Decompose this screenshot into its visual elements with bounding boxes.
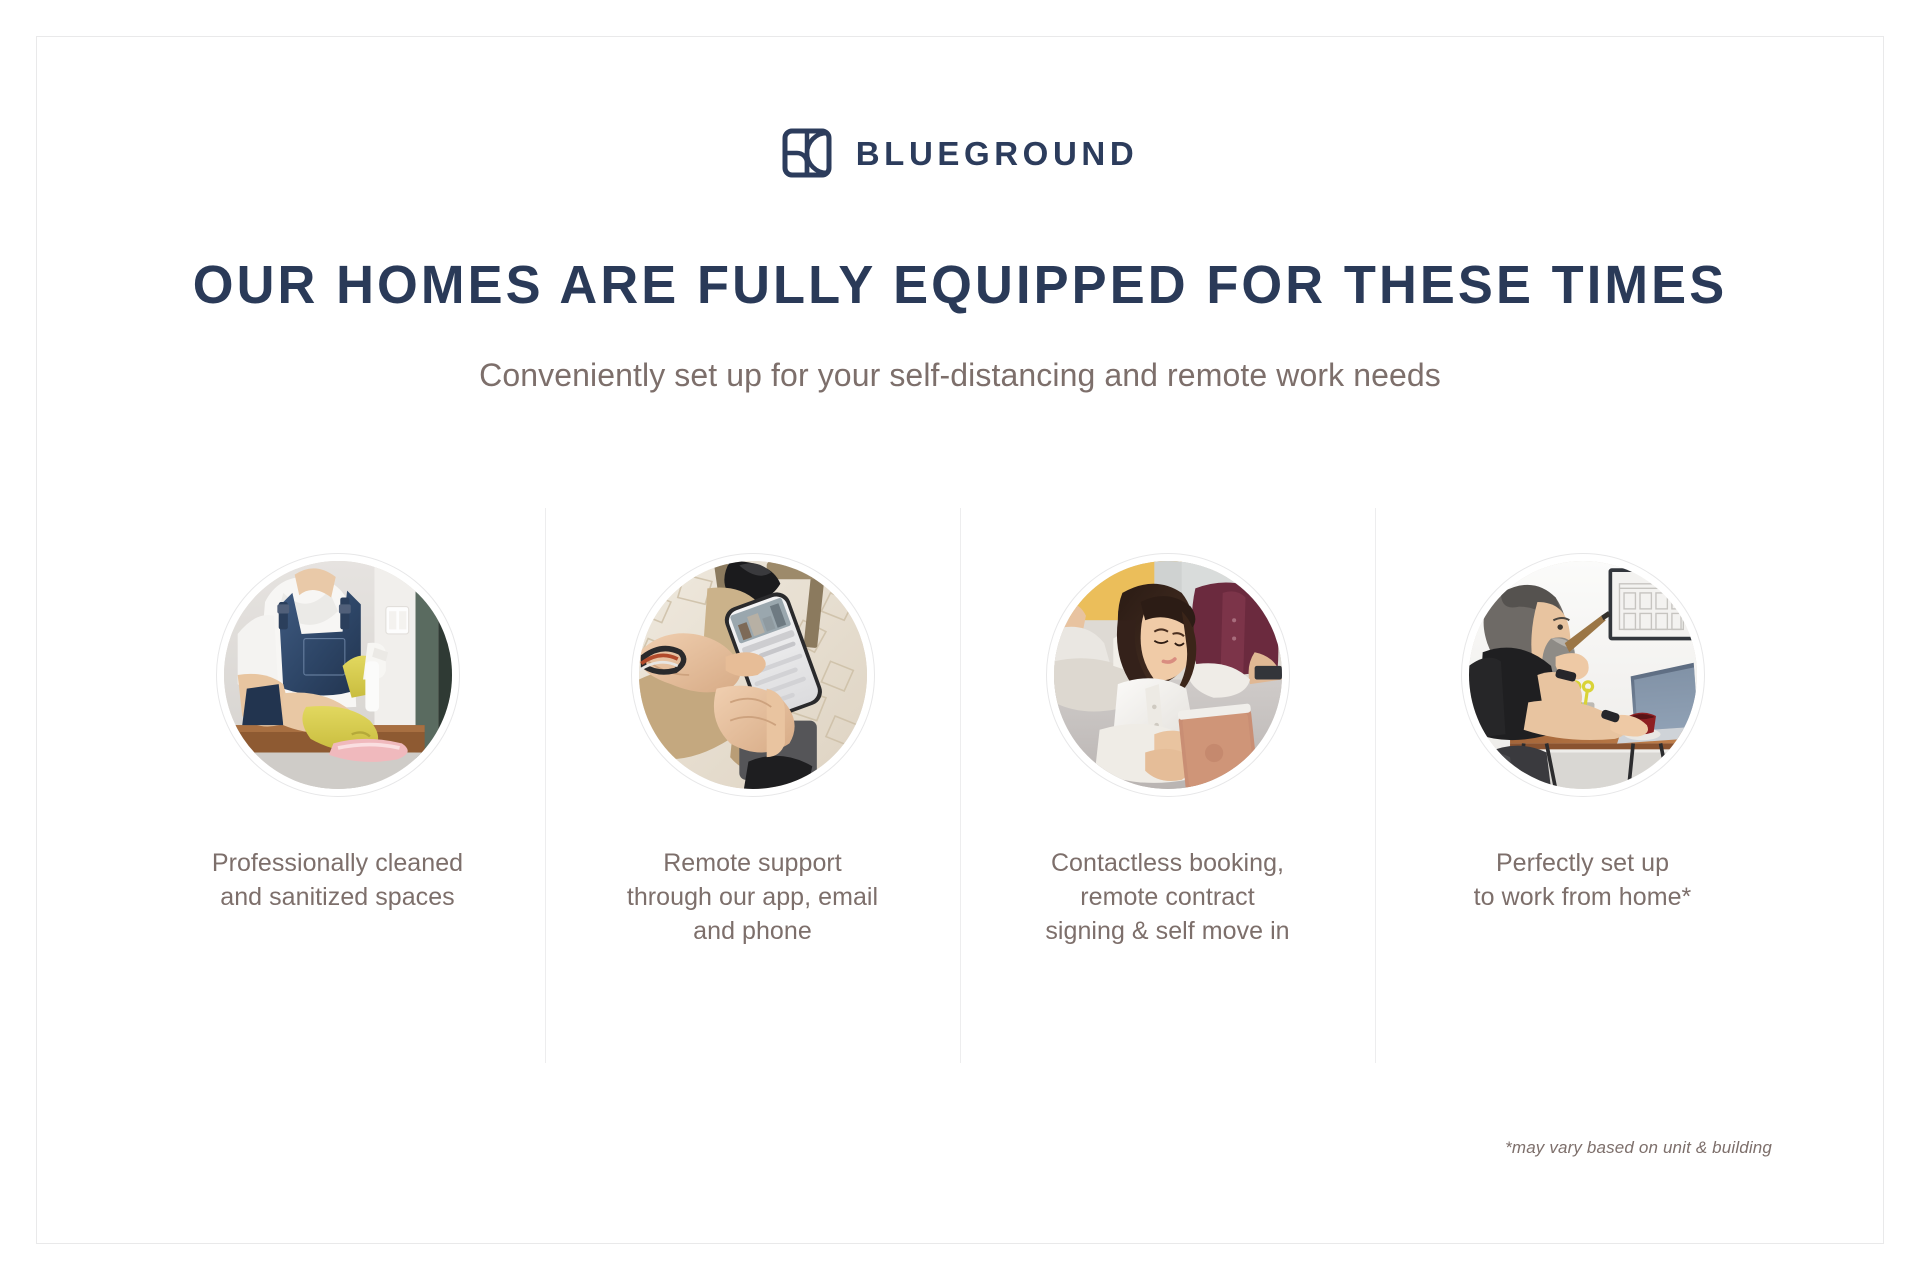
feature-photo-ring [631,553,875,797]
woman-on-bed-with-tablet-photo [1054,561,1282,789]
blueground-square-mark-icon [782,128,832,178]
man-working-from-home-desk-photo [1469,561,1697,789]
hands-using-phone-app-photo [639,561,867,789]
feature-column-remote-support: Remote support through our app, email an… [545,508,960,1063]
feature-photo-ring [1046,553,1290,797]
page-headline: OUR HOMES ARE FULLY EQUIPPED FOR THESE T… [29,256,1891,314]
feature-column-work-from-home: Perfectly set up to work from home* [1375,508,1790,1063]
feature-photo-ring [1461,553,1705,797]
feature-caption: Professionally cleaned and sanitized spa… [202,847,473,915]
cleaner-wiping-counter-photo [224,561,452,789]
page-subhead: Conveniently set up for your self-distan… [0,355,1920,395]
feature-caption: Remote support through our app, email an… [617,847,888,948]
feature-caption: Perfectly set up to work from home* [1464,847,1702,915]
feature-photo-ring [216,553,460,797]
brand-lockup: BLUEGROUND [0,128,1920,178]
brand-wordmark: BLUEGROUND [856,137,1139,170]
footnote-disclaimer: *may vary based on unit & building [1505,1138,1772,1158]
feature-column-cleaning: Professionally cleaned and sanitized spa… [130,508,545,1063]
feature-column-contactless-booking: Contactless booking, remote contract sig… [960,508,1375,1063]
poster-canvas: BLUEGROUND OUR HOMES ARE FULLY EQUIPPED … [0,0,1920,1280]
feature-columns: Professionally cleaned and sanitized spa… [130,508,1790,1063]
feature-caption: Contactless booking, remote contract sig… [1035,847,1299,948]
